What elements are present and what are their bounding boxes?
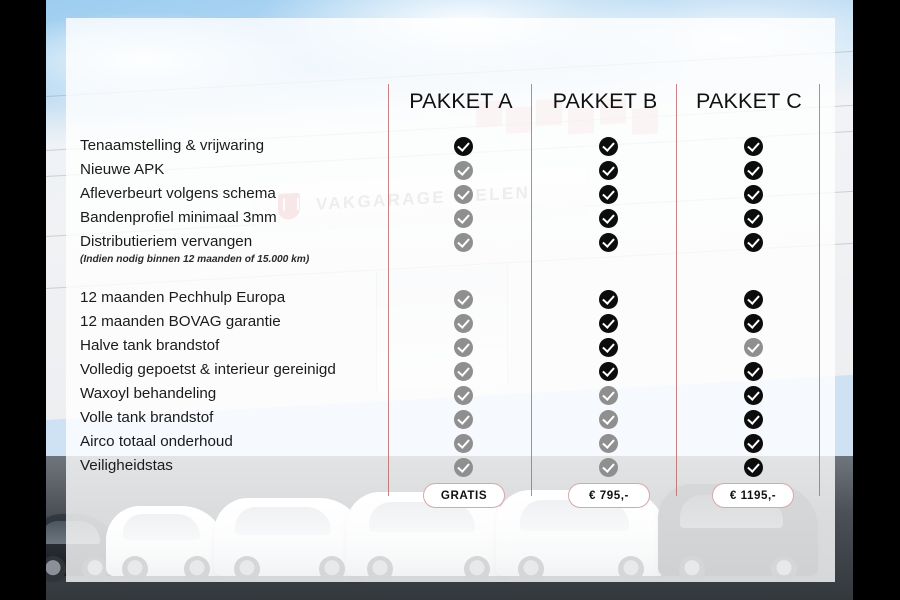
check-cell [443,431,483,455]
check-spacer [588,268,628,287]
check-cell [588,335,628,359]
check-included-icon [599,362,618,381]
check-cell [733,230,773,254]
feature-label: Veiligheidstas [80,454,380,478]
check-included-icon [599,161,618,180]
check-included-icon [744,458,763,477]
check-cell [588,230,628,254]
check-cell [443,407,483,431]
check-included-icon [599,290,618,309]
check-cell [588,383,628,407]
check-cell [733,134,773,158]
column-header-pakket-c: PAKKET C [680,89,818,114]
feature-label: Afleverbeurt volgens schema [80,182,380,206]
column-divider [388,84,389,496]
check-included-icon [599,314,618,333]
check-included-icon [744,161,763,180]
check-excluded-icon [454,458,473,477]
check-cell [443,230,483,254]
check-excluded-icon [599,434,618,453]
check-cell [443,134,483,158]
column-header-pakket-b: PAKKET B [535,89,675,114]
screenshot-stage: VAKGARAGE GIELEN [0,0,900,600]
check-excluded-icon [454,314,473,333]
check-excluded-icon [454,290,473,309]
feature-label-list: Tenaamstelling & vrijwaring Nieuwe APK A… [80,134,380,478]
check-included-icon [744,290,763,309]
check-cell [733,431,773,455]
check-cell [443,383,483,407]
check-cell [733,335,773,359]
check-cell [588,287,628,311]
feature-label: Tenaamstelling & vrijwaring [80,134,380,158]
price-pill-pakket-b[interactable]: € 795,- [568,483,650,508]
check-excluded-icon [599,458,618,477]
feature-label: Nieuwe APK [80,158,380,182]
check-cell [733,383,773,407]
feature-label: Bandenprofiel minimaal 3mm [80,206,380,230]
check-cell [588,206,628,230]
check-cell [443,158,483,182]
check-cell [443,311,483,335]
letterbox-bar-left [0,0,46,600]
check-cell [733,158,773,182]
feature-label: Distributieriem vervangen [80,230,380,254]
check-excluded-icon [454,386,473,405]
check-cell [733,287,773,311]
check-column-pakket-b [588,134,628,479]
check-cell [733,455,773,479]
check-column-pakket-a [443,134,483,479]
check-cell [588,407,628,431]
feature-label: Volle tank brandstof [80,406,380,430]
check-cell [588,431,628,455]
check-excluded-icon [454,338,473,357]
check-cell [443,182,483,206]
check-included-icon [744,209,763,228]
check-included-icon [599,209,618,228]
check-included-icon [744,410,763,429]
check-included-icon [744,314,763,333]
check-excluded-icon [454,410,473,429]
check-cell [733,407,773,431]
check-cell [588,359,628,383]
check-included-icon [599,137,618,156]
check-included-icon [454,137,473,156]
check-cell [588,455,628,479]
check-excluded-icon [599,410,618,429]
check-spacer [733,254,773,268]
group-spacer [80,267,380,286]
feature-label: 12 maanden BOVAG garantie [80,310,380,334]
check-spacer [588,254,628,268]
check-cell [443,206,483,230]
check-spacer [443,254,483,268]
check-included-icon [599,233,618,252]
check-excluded-icon [744,338,763,357]
column-divider [531,84,532,496]
feature-label: 12 maanden Pechhulp Europa [80,286,380,310]
check-excluded-icon [599,386,618,405]
check-cell [733,206,773,230]
feature-label: Airco totaal onderhoud [80,430,380,454]
check-spacer [443,268,483,287]
feature-label: Waxoyl behandeling [80,382,380,406]
distributieriem-subnote: (Indien nodig binnen 12 maanden of 15.00… [80,253,380,267]
feature-label: Halve tank brandstof [80,334,380,358]
check-excluded-icon [454,209,473,228]
column-header-pakket-a: PAKKET A [392,89,530,114]
check-cell [588,311,628,335]
column-divider [819,84,820,496]
letterbox-bar-right [853,0,900,600]
check-cell [733,311,773,335]
check-excluded-icon [454,434,473,453]
check-included-icon [599,185,618,204]
check-cell [443,359,483,383]
price-pill-pakket-c[interactable]: € 1195,- [712,483,794,508]
check-excluded-icon [454,161,473,180]
check-cell [588,158,628,182]
check-cell [443,335,483,359]
check-cell [733,182,773,206]
column-divider [676,84,677,496]
check-excluded-icon [454,362,473,381]
check-included-icon [744,233,763,252]
check-cell [443,455,483,479]
check-cell [443,287,483,311]
price-pill-pakket-a[interactable]: GRATIS [423,483,505,508]
check-included-icon [744,185,763,204]
check-cell [733,359,773,383]
check-column-pakket-c [733,134,773,479]
check-included-icon [744,386,763,405]
check-excluded-icon [454,233,473,252]
check-included-icon [599,338,618,357]
check-spacer [733,268,773,287]
check-included-icon [744,434,763,453]
check-included-icon [744,362,763,381]
check-excluded-icon [454,185,473,204]
check-cell [588,134,628,158]
feature-label: Volledig gepoetst & interieur gereinigd [80,358,380,382]
check-cell [588,182,628,206]
check-included-icon [744,137,763,156]
